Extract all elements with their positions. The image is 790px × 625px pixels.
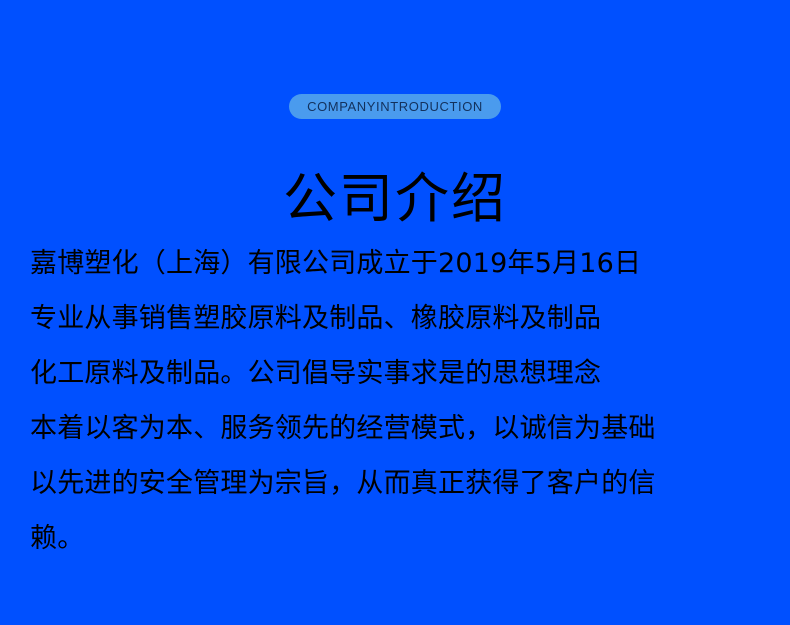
description-line: 专业从事销售塑胶原料及制品、橡胶原料及制品 [30, 291, 764, 346]
description-line: 本着以客为本、服务领先的经营模式，以诚信为基础 [30, 401, 764, 456]
company-introduction-poster: COMPANYINTRODUCTION 公司介绍 嘉博塑化（上海）有限公司成立于… [0, 0, 790, 625]
description-line: 嘉博塑化（上海）有限公司成立于2019年5月16日 [30, 236, 764, 291]
badge-container: COMPANYINTRODUCTION [0, 94, 790, 119]
company-introduction-badge: COMPANYINTRODUCTION [289, 94, 501, 119]
description-line: 化工原料及制品。公司倡导实事求是的思想理念 [30, 346, 764, 401]
company-description: 嘉博塑化（上海）有限公司成立于2019年5月16日 专业从事销售塑胶原料及制品、… [30, 236, 764, 566]
description-line: 赖。 [30, 511, 764, 566]
page-title: 公司介绍 [283, 169, 507, 228]
badge-label: COMPANYINTRODUCTION [307, 100, 483, 113]
description-line: 以先进的安全管理为宗旨，从而真正获得了客户的信 [30, 456, 764, 511]
